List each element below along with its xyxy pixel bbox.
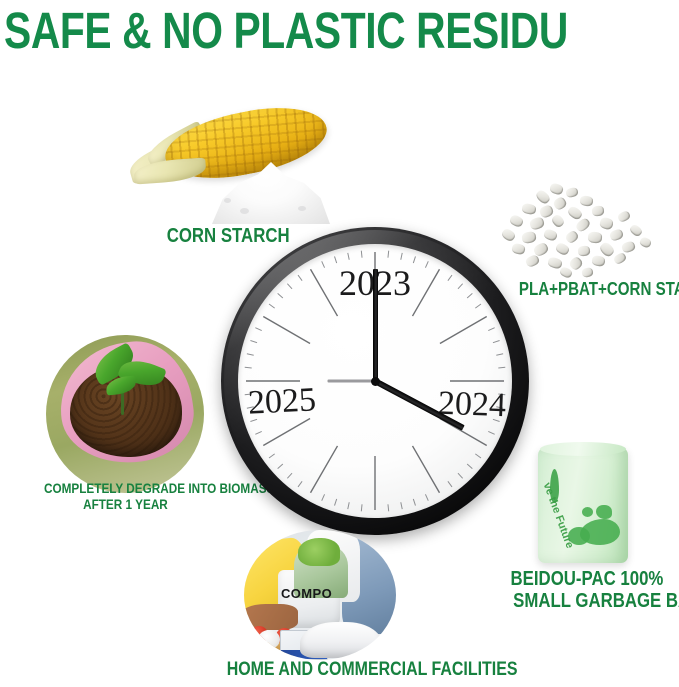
second-hand <box>327 380 375 383</box>
kitchen-compost-bin-photo: COMPO <box>244 530 396 660</box>
caption-beidou-pac-bags: BEIDOU-PAC 100% SMALL GARBAGE BAGS <box>494 568 679 613</box>
page-title: SAFE & NO PLASTIC RESIDU <box>4 4 484 58</box>
minute-hand <box>373 269 378 381</box>
plant-print-graphic <box>596 505 612 519</box>
clock-face: 2023 2025 2024 <box>238 244 512 518</box>
hands-soil-seedling-photo <box>46 335 204 493</box>
lettuce-scraps <box>298 538 340 566</box>
plant-print-graphic <box>580 519 620 545</box>
infographic-poster: SAFE & NO PLASTIC RESIDU CORN STARCH <box>0 0 679 687</box>
clock-numeral-2025: 2025 <box>247 381 317 423</box>
composting-appliance <box>300 622 382 658</box>
starch-grain <box>240 208 249 214</box>
onion-icon <box>258 630 280 649</box>
corn-starch-image <box>128 104 333 222</box>
countdown-clock: 2023 2025 2024 <box>221 227 529 535</box>
clock-center-cap <box>371 377 380 386</box>
starch-grain <box>298 206 306 211</box>
person-arm <box>244 604 298 630</box>
caption-degrade-biomass: COMPLETELY DEGRADE INTO BIOMASS AFTER 1 … <box>22 481 228 512</box>
green-garbage-bag-roll-image: ve the Future <box>538 447 628 563</box>
compost-bin-label: COMPO <box>281 586 332 601</box>
plant-print-graphic <box>582 507 593 517</box>
starch-grain <box>224 198 231 203</box>
bag-roll-body: ve the Future <box>538 447 628 563</box>
caption-home-commercial: HOME AND COMMERCIAL FACILITIES <box>199 659 441 680</box>
bag-roll-top <box>540 442 626 456</box>
